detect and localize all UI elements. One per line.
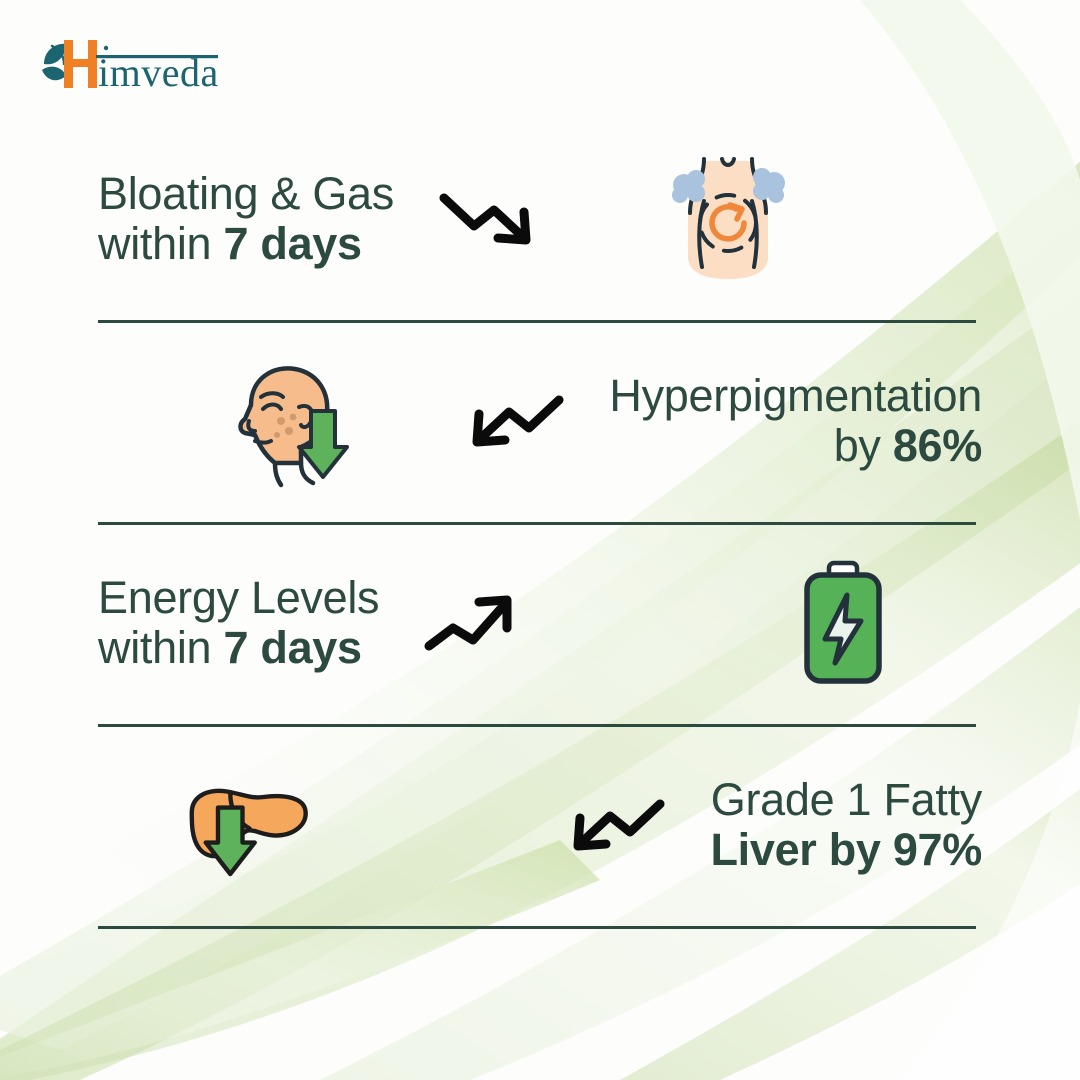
benefit-text-energy: Energy Levels within 7 days <box>98 573 379 674</box>
abdomen-bloating-icon <box>658 149 798 289</box>
benefit-line1: Bloating & Gas <box>98 168 394 219</box>
benefit-row-hyperpigmentation: Hyperpigmentation by 86% <box>0 320 1080 522</box>
trend-up-right-arrow-icon <box>419 588 523 658</box>
benefit-row-energy: Energy Levels within 7 days <box>0 522 1080 724</box>
divider-2 <box>98 522 976 525</box>
benefit-line1: Grade 1 Fatty <box>711 774 982 825</box>
infographic-canvas: imveda Bloating & Gas within 7 days <box>0 0 1080 1080</box>
benefit-text-fatty-liver: Grade 1 Fatty Liver by 97% <box>710 775 982 876</box>
logo-wordmark: imveda <box>98 50 219 95</box>
trend-down-left-arrow-icon <box>566 790 670 860</box>
benefit-text-hyperpigmentation: Hyperpigmentation by 86% <box>609 371 982 472</box>
benefit-line1: Energy Levels <box>98 572 379 623</box>
himveda-logo[interactable]: imveda <box>30 34 270 96</box>
divider-1 <box>98 320 976 323</box>
benefit-line2-value: Liver by 97% <box>710 824 982 875</box>
trend-down-right-arrow-icon <box>434 184 538 254</box>
benefits-list: Bloating & Gas within 7 days <box>0 118 1080 926</box>
face-pigmentation-icon <box>215 351 355 491</box>
divider-4 <box>98 926 976 929</box>
benefit-line2-prefix: within <box>98 218 223 269</box>
benefit-line1: Hyperpigmentation <box>609 370 982 421</box>
benefit-line2-value: 7 days <box>223 622 361 673</box>
divider-3 <box>98 724 976 727</box>
battery-charged-icon <box>773 553 913 693</box>
trend-down-left-arrow-icon <box>465 386 569 456</box>
liver-decrease-icon <box>176 755 316 895</box>
benefit-text-bloating: Bloating & Gas within 7 days <box>98 169 394 270</box>
benefit-line2-prefix: within <box>98 622 223 673</box>
benefit-line2-prefix: by <box>834 420 893 471</box>
logo-letter-h <box>64 40 97 88</box>
benefit-line2-value: 86% <box>893 420 982 471</box>
benefit-row-bloating: Bloating & Gas within 7 days <box>0 118 1080 320</box>
benefit-line2-value: 7 days <box>223 218 361 269</box>
logo-dot <box>104 46 108 50</box>
gas-cloud-left-icon <box>672 170 705 203</box>
benefit-row-fatty-liver: Grade 1 Fatty Liver by 97% <box>0 724 1080 926</box>
gas-cloud-right-icon <box>753 168 785 203</box>
